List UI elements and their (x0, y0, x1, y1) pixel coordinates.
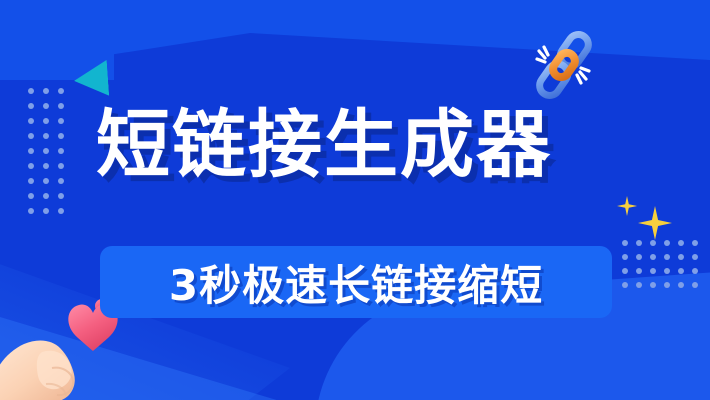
dot-grid-right-dot (692, 268, 698, 274)
dot-grid-right-dot (622, 254, 628, 260)
dot-grid-left-dot (28, 178, 34, 184)
dot-grid-right-dot (692, 282, 698, 288)
dot-grid-left-dot (28, 118, 34, 124)
dot-grid-right-dot (650, 268, 656, 274)
dot-grid-left-dot (43, 133, 49, 139)
dot-grid-right-dot (636, 254, 642, 260)
dot-grid-left-dot (43, 178, 49, 184)
dot-grid-left-dot (58, 208, 64, 214)
dot-grid-right-dot (650, 240, 656, 246)
dot-grid-left-dot (58, 88, 64, 94)
dot-grid-left-dot (43, 163, 49, 169)
dot-grid-right-dot (678, 282, 684, 288)
dot-grid-left-dot (28, 148, 34, 154)
dot-grid-right-dot (678, 268, 684, 274)
dot-grid-left-dot (28, 103, 34, 109)
dot-grid-left-dot (58, 178, 64, 184)
chain-link-icon (528, 26, 600, 104)
dot-grid-right-dot (678, 254, 684, 260)
dot-grid-right-dot (622, 240, 628, 246)
dot-grid-right-dot (664, 268, 670, 274)
dot-grid-left-dot (58, 163, 64, 169)
dot-grid-right (622, 240, 698, 288)
subtitle-pill: 3秒极速长链接缩短 (100, 246, 612, 318)
dot-grid-right-dot (664, 282, 670, 288)
dot-grid-right-dot (692, 240, 698, 246)
dot-grid-right-dot (664, 254, 670, 260)
dot-grid-left-dot (43, 148, 49, 154)
dot-grid-left-dot (43, 118, 49, 124)
dot-grid-right-dot (636, 282, 642, 288)
dot-grid-right-dot (650, 282, 656, 288)
dot-grid-left-dot (43, 193, 49, 199)
dot-grid-left-dot (43, 88, 49, 94)
dot-grid-right-dot (664, 240, 670, 246)
dot-grid-left-dot (28, 88, 34, 94)
poster-canvas: 短链接生成器 3秒极速长链接缩短 (0, 0, 710, 400)
subtitle-text: 3秒极速长链接缩短 (100, 246, 612, 318)
page-title: 短链接生成器 (96, 102, 552, 188)
dot-grid-right-dot (636, 240, 642, 246)
dot-grid-left-dot (58, 193, 64, 199)
dot-grid-right-dot (622, 268, 628, 274)
dot-grid-right-dot (650, 254, 656, 260)
dot-grid-left-dot (28, 193, 34, 199)
dot-grid-left (28, 88, 64, 214)
dot-grid-left-dot (58, 148, 64, 154)
dot-grid-left-dot (43, 208, 49, 214)
dot-grid-right-dot (678, 240, 684, 246)
dot-grid-right-dot (622, 282, 628, 288)
dot-grid-left-dot (28, 163, 34, 169)
dot-grid-right-dot (692, 254, 698, 260)
dot-grid-left-dot (43, 103, 49, 109)
dot-grid-left-dot (58, 133, 64, 139)
dot-grid-left-dot (58, 103, 64, 109)
dot-grid-left-dot (28, 208, 34, 214)
dot-grid-right-dot (636, 268, 642, 274)
dot-grid-left-dot (58, 118, 64, 124)
dot-grid-left-dot (28, 133, 34, 139)
